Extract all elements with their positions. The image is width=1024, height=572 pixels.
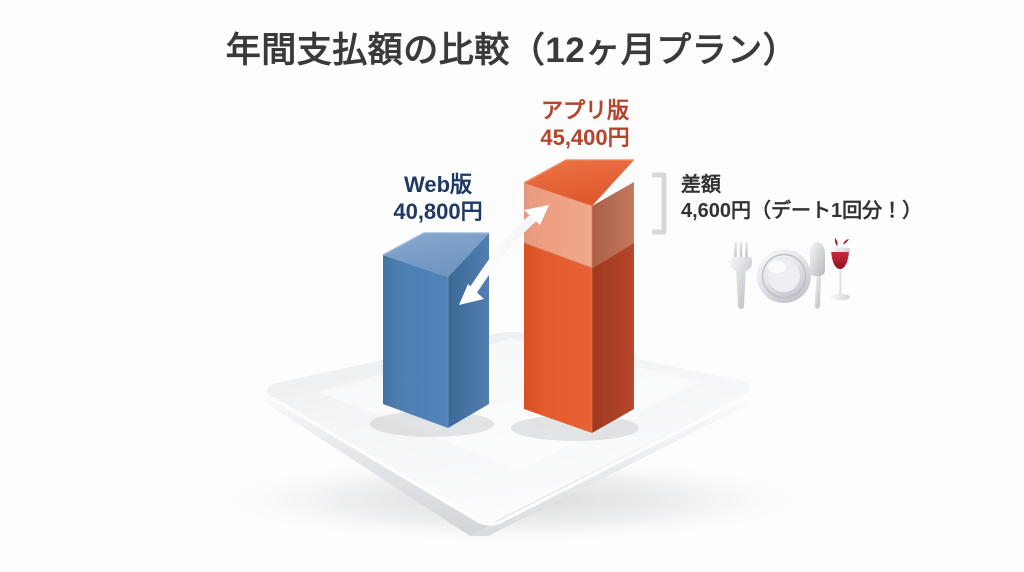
bar-label-app-name: アプリ版 [470, 98, 700, 125]
bar-chart-3d-scene [0, 0, 1024, 572]
difference-bracket-icon [654, 175, 664, 232]
knife-icon [810, 242, 825, 309]
bar-label-web-value: 40,800円 [323, 199, 553, 226]
bar-label-app: アプリ版 45,400円 [470, 98, 700, 152]
fork-icon [730, 242, 752, 309]
difference-detail: 4,600円（デート1回分！） [681, 198, 1011, 224]
slide-canvas: 年間支払額の比較（12ヶ月プラン） [0, 0, 1024, 572]
wine-glass-icon [830, 238, 850, 300]
bar-label-app-value: 45,400円 [470, 125, 700, 152]
difference-heading: 差額 [681, 172, 1011, 198]
fork-plate-knife-wine-icon [722, 236, 854, 312]
chart-svg [0, 0, 1024, 572]
plate-icon [757, 249, 811, 303]
bar-label-web-name: Web版 [323, 172, 553, 199]
difference-annotation: 差額 4,600円（デート1回分！） [681, 172, 1011, 225]
bar-label-web: Web版 40,800円 [323, 172, 553, 226]
